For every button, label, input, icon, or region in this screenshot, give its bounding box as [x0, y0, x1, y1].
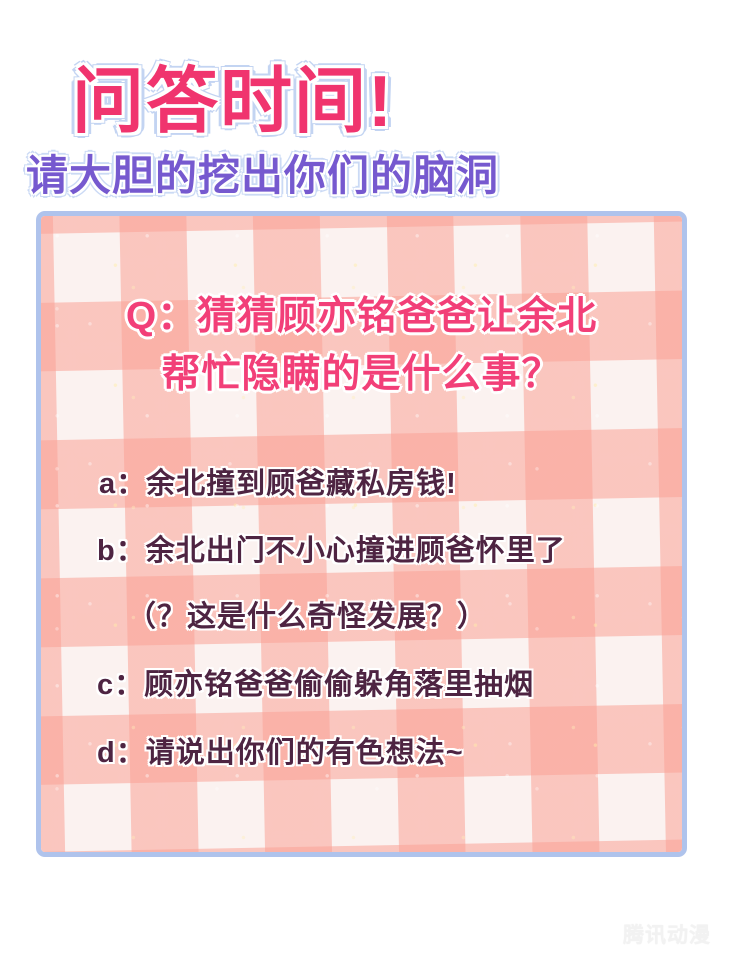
page-subtitle: 请大胆的挖出你们的脑洞: [26, 155, 499, 197]
watermark-label: 腾讯动漫: [623, 919, 711, 949]
page-title: 问答时间!: [72, 66, 394, 138]
comic-qa-panel: 问答时间! 请大胆的挖出你们的脑洞 Q：猜猜顾亦铭爸爸让余北 帮忙隐瞒的是什么事…: [0, 0, 729, 963]
header-block: 问答时间! 请大胆的挖出你们的脑洞: [0, 0, 729, 212]
gingham-background: [36, 211, 687, 857]
question-card: Q：猜猜顾亦铭爸爸让余北 帮忙隐瞒的是什么事？ a：余北撞到顾爸藏私房钱! b：…: [36, 211, 687, 857]
